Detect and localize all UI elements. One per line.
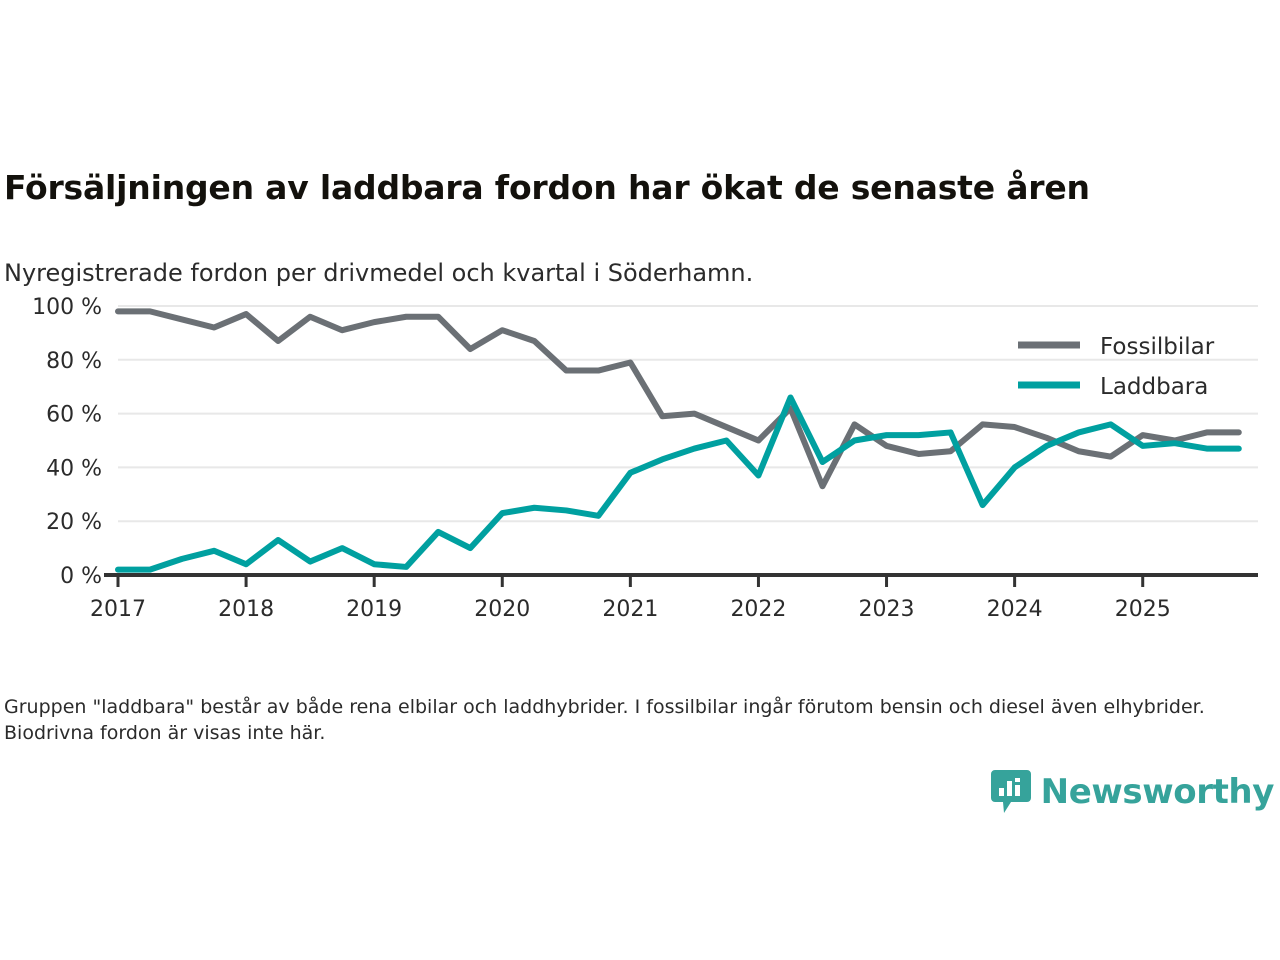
chart-page: Försäljningen av laddbara fordon har öka… bbox=[0, 0, 1280, 960]
x-axis-tick-label: 2017 bbox=[90, 597, 146, 622]
x-axis-tick-label: 2020 bbox=[474, 597, 530, 622]
bar-chart-speech-bubble-icon bbox=[991, 770, 1031, 814]
chart-subtitle: Nyregistrerade fordon per drivmedel och … bbox=[4, 259, 753, 288]
chart-svg: 0 %20 %40 %60 %80 %100 % 201720182019202… bbox=[0, 285, 1265, 630]
logo-text: Newsworthy bbox=[1041, 775, 1274, 809]
series-lines bbox=[118, 311, 1239, 569]
x-axis-tick-label: 2018 bbox=[218, 597, 274, 622]
y-axis-tick-label: 0 % bbox=[60, 564, 102, 589]
x-axis-tick-label: 2025 bbox=[1115, 597, 1171, 622]
y-axis-labels: 0 %20 %40 %60 %80 %100 % bbox=[32, 295, 102, 589]
x-axis-tick-label: 2021 bbox=[602, 597, 658, 622]
page-title: Försäljningen av laddbara fordon har öka… bbox=[4, 170, 1090, 206]
line-chart: 0 %20 %40 %60 %80 %100 % 201720182019202… bbox=[0, 285, 1265, 630]
x-axis-tick-label: 2019 bbox=[346, 597, 402, 622]
newsworthy-logo[interactable]: Newsworthy bbox=[991, 770, 1274, 814]
series-line-fossilbilar bbox=[118, 311, 1239, 486]
x-axis-tick-label: 2022 bbox=[730, 597, 786, 622]
legend-label[interactable]: Laddbara bbox=[1100, 374, 1208, 400]
x-axis-tick-label: 2023 bbox=[859, 597, 915, 622]
series-line-laddbara bbox=[118, 397, 1239, 569]
y-axis-tick-label: 40 % bbox=[46, 456, 102, 481]
y-axis-tick-label: 80 % bbox=[46, 349, 102, 374]
x-axis: 201720182019202020212022202320242025 bbox=[90, 575, 1258, 622]
x-axis-tick-label: 2024 bbox=[987, 597, 1043, 622]
legend-label[interactable]: Fossilbilar bbox=[1100, 334, 1215, 360]
y-axis-tick-label: 20 % bbox=[46, 510, 102, 535]
chart-legend: FossilbilarLaddbara bbox=[1018, 334, 1215, 400]
y-axis-tick-label: 100 % bbox=[32, 295, 102, 320]
chart-footnote: Gruppen "laddbara" består av både rena e… bbox=[4, 695, 1234, 746]
y-axis-tick-label: 60 % bbox=[46, 403, 102, 428]
